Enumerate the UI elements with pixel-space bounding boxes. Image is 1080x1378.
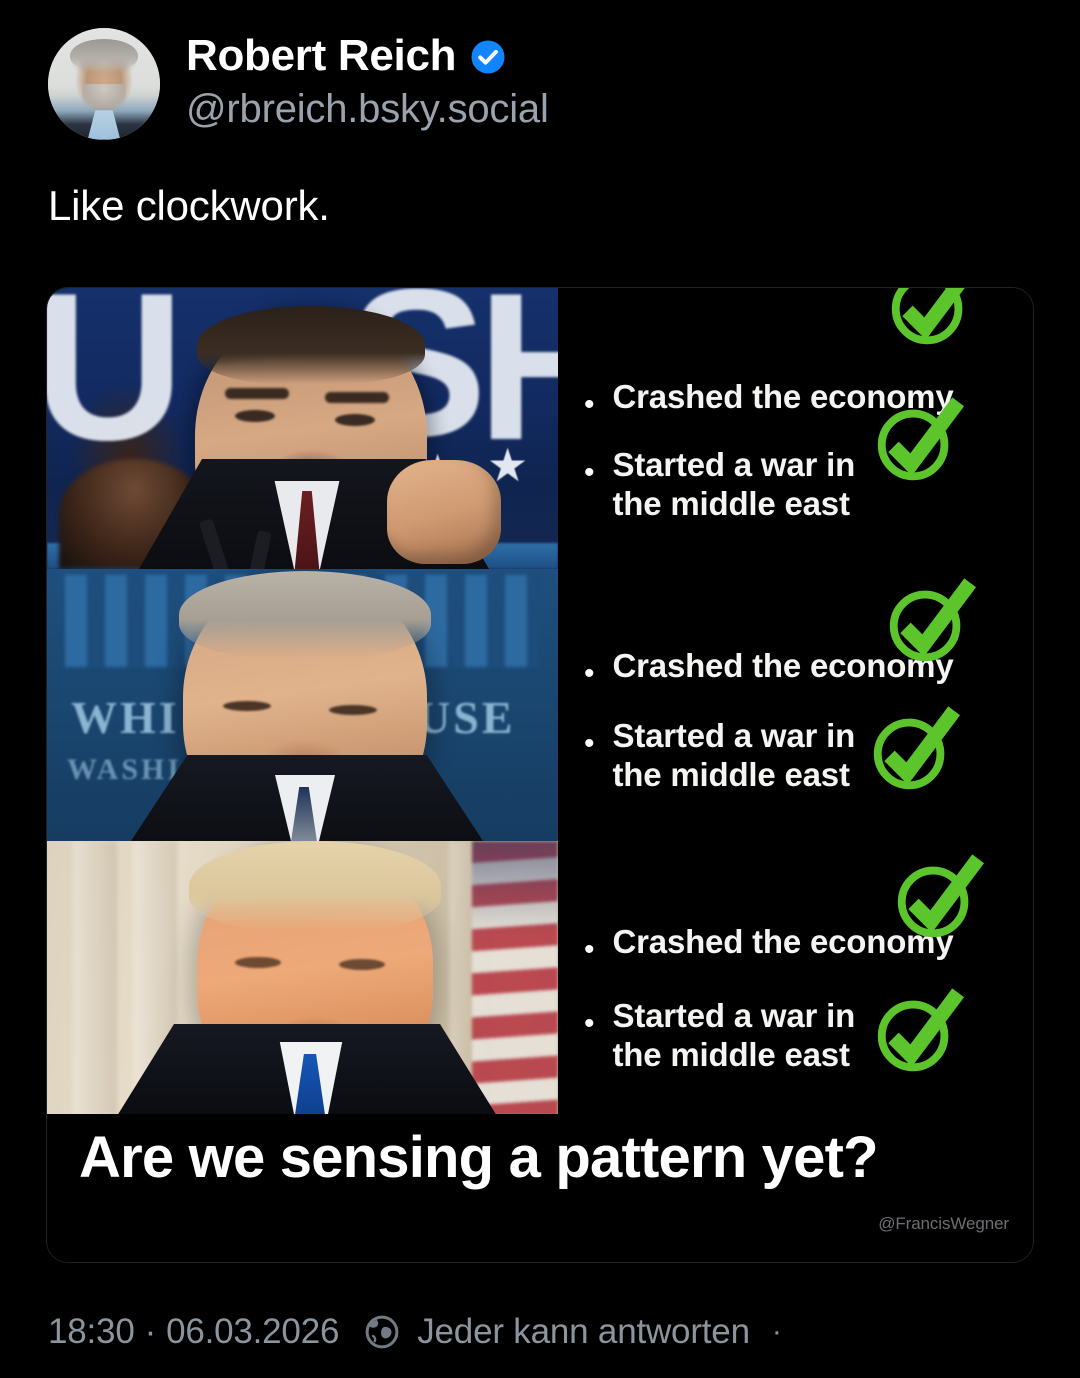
meme-caption-bar: Are we sensing a pattern yet? @FrancisWe…	[47, 1114, 1033, 1262]
photo-eye	[235, 410, 275, 422]
photo-eye	[235, 957, 281, 968]
photo-brow	[225, 388, 289, 399]
photo-eye	[223, 701, 271, 711]
post-body-text: Like clockwork.	[0, 140, 1080, 230]
photo-eye	[339, 959, 385, 970]
meme-bullets: • Crashed the economy • Started a war in…	[558, 569, 1033, 841]
meme-bullets: • Crashed the economy • Started a war in…	[558, 288, 1033, 569]
meme-row: • Crashed the economy • Started a war in…	[47, 841, 1033, 1116]
photo-donald-trump	[47, 841, 558, 1116]
bullet-dot: •	[584, 1009, 595, 1039]
photo-flag	[472, 841, 558, 1116]
bullet-label: Started a war inthe middle east	[613, 446, 856, 523]
bullet-label: Started a war inthe middle east	[613, 717, 856, 794]
backdrop-text: USE	[417, 691, 515, 744]
bullet-label: Crashed the economy	[613, 378, 954, 417]
meme-image-card[interactable]: U S H ★ ★ ★	[46, 287, 1034, 1263]
photo-drape	[73, 841, 117, 1116]
meme-bullets: • Crashed the economy • Started a war in…	[558, 841, 1033, 1116]
bullet-label: Started a war inthe middle east	[613, 997, 856, 1074]
post-header: Robert Reich @rbreich.bsky.social	[0, 0, 1080, 140]
backdrop-text: WHI	[71, 691, 180, 744]
avatar[interactable]	[48, 28, 160, 140]
reply-scope-label: Jeder kann antworten	[417, 1312, 750, 1352]
photo-brow	[325, 392, 389, 403]
photo-fist	[387, 460, 501, 564]
bullet-item: • Started a war inthe middle east	[584, 997, 1033, 1074]
bullet-label: Crashed the economy	[613, 923, 954, 962]
footer-trailing-separator: ·	[772, 1315, 782, 1349]
post-footer: 18:30 · 06.03.2026 Jeder kann antworten …	[48, 1312, 782, 1352]
globe-icon	[363, 1313, 401, 1351]
photo-george-w-bush: WHI USE WASHI	[47, 569, 558, 841]
meme-row: U S H ★ ★ ★	[47, 288, 1033, 569]
display-name[interactable]: Robert Reich	[186, 33, 456, 79]
green-check-icon	[882, 287, 980, 354]
meme-watermark: @FrancisWegner	[878, 1214, 1009, 1234]
bluesky-post: Robert Reich @rbreich.bsky.social Like c…	[0, 0, 1080, 1378]
account-handle[interactable]: @rbreich.bsky.social	[186, 84, 549, 134]
bullet-item: • Crashed the economy	[584, 647, 1033, 689]
bullet-dot: •	[584, 659, 595, 689]
photo-hair	[189, 841, 441, 931]
photo-eye	[335, 414, 375, 426]
backdrop-text: WASHI	[67, 753, 182, 787]
post-time: 18:30	[48, 1312, 135, 1352]
meme-rows: U S H ★ ★ ★	[47, 288, 1033, 1116]
bullet-item: • Crashed the economy	[584, 378, 1033, 420]
bullet-dot: •	[584, 935, 595, 965]
account-names: Robert Reich @rbreich.bsky.social	[186, 33, 549, 133]
photo-george-hw-bush: U S H ★ ★ ★	[47, 288, 558, 569]
bullet-label: Crashed the economy	[613, 647, 954, 686]
bullet-dot: •	[584, 729, 595, 759]
bullet-dot: •	[584, 458, 595, 488]
bullet-item: • Crashed the economy	[584, 923, 1033, 965]
photo-eye	[329, 705, 377, 715]
backdrop-letter: U	[47, 288, 185, 472]
bullet-item: • Started a war inthe middle east	[584, 446, 1033, 523]
photo-hair	[179, 571, 431, 659]
display-name-row: Robert Reich	[186, 33, 549, 79]
avatar-hair	[70, 39, 137, 73]
photo-hair	[197, 306, 425, 384]
meme-caption: Are we sensing a pattern yet?	[79, 1124, 878, 1191]
footer-separator: ·	[145, 1312, 156, 1352]
bullet-dot: •	[584, 390, 595, 420]
verified-check-icon	[470, 39, 506, 75]
meme-row: WHI USE WASHI • Crashed the economy	[47, 569, 1033, 841]
post-date: 06.03.2026	[166, 1312, 339, 1352]
bullet-item: • Started a war inthe middle east	[584, 717, 1033, 794]
